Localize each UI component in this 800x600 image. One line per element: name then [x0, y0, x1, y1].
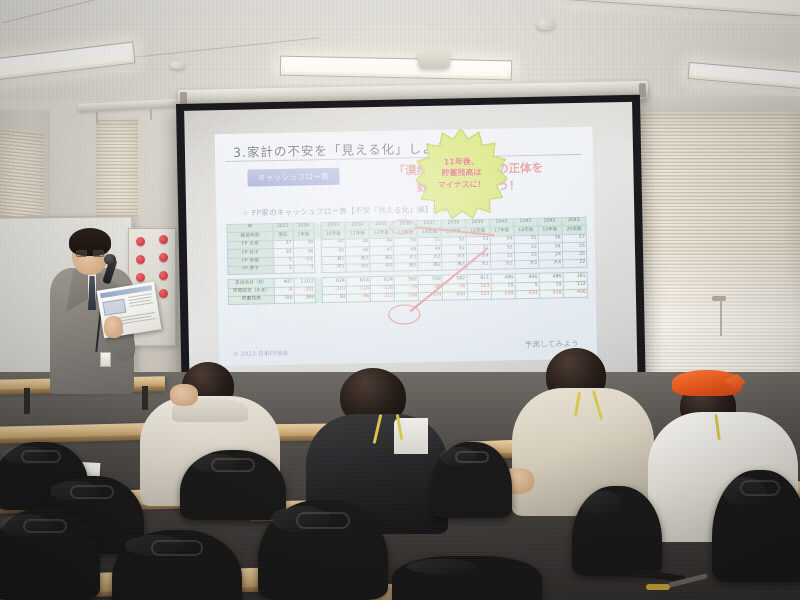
- presenter-hand: [104, 316, 123, 338]
- cashflow-cell: -288: [395, 293, 419, 302]
- cashflow-cell: -450: [443, 292, 467, 301]
- desk-leg: [24, 388, 30, 414]
- chair[interactable]: [392, 556, 542, 600]
- starburst-callout: 11年後、 貯蓄残高は マイナスに！: [415, 127, 509, 221]
- chair[interactable]: [712, 470, 800, 582]
- red-indicator-icon: [159, 289, 168, 298]
- glasses-icon: [76, 250, 104, 257]
- red-indicator-icon: [136, 255, 145, 264]
- red-indicator-icon: [136, 273, 145, 282]
- presentation-slide: 3.家計の不安を「見える化」しよう キャッシュフロー表 「漠然とした不安」の正体…: [215, 127, 598, 367]
- chair[interactable]: [432, 442, 512, 518]
- window-blinds-right[interactable]: [626, 112, 800, 400]
- projection-surface: 3.家計の不安を「見える化」しよう キャッシュフロー表 「漠然とした不安」の正体…: [184, 102, 637, 389]
- smoke-detector-icon: [536, 18, 555, 30]
- cashflow-tag-badge: キャッシュフロー表: [247, 168, 339, 187]
- cashflow-cell: -538: [491, 291, 515, 300]
- ceiling-speaker: [418, 52, 450, 69]
- cashflow-cell: -533: [515, 290, 539, 299]
- cashflow-cell: -406: [563, 289, 587, 298]
- name-badge: [100, 352, 111, 367]
- callout-line-2: 貯蓄残高は: [441, 167, 481, 179]
- red-indicator-icon: [159, 235, 168, 244]
- window-blinds-left-2[interactable]: [96, 118, 138, 218]
- cashflow-cell: 369: [294, 295, 316, 304]
- seminar-room-photo: 3.家計の不安を「見える化」しよう キャッシュフロー表 「漠然とした不安」の正体…: [0, 0, 800, 600]
- cashflow-cell: -86: [347, 294, 371, 303]
- attendee-1-hand: [170, 384, 198, 406]
- chair[interactable]: [258, 500, 388, 600]
- microphone-head-icon: [104, 254, 116, 265]
- callout-text: 11年後、 貯蓄残高は マイナスに！: [415, 127, 509, 221]
- red-indicator-icon: [136, 237, 145, 246]
- chair[interactable]: [180, 450, 286, 520]
- smoke-detector-icon: [170, 61, 185, 69]
- callout-line-3: マイナスに！: [438, 178, 486, 190]
- chair[interactable]: [572, 486, 662, 576]
- cashflow-row-label: 貯蓄残高: [228, 296, 274, 305]
- floor-cable-yellow: [646, 584, 670, 590]
- desk-leg: [142, 386, 148, 410]
- cashflow-cell: -553: [467, 291, 491, 300]
- callout-line-1: 11年後、: [444, 156, 479, 168]
- cashflow-cell: 700: [274, 295, 294, 304]
- blind-cord[interactable]: [720, 300, 722, 336]
- cashflow-cell: 30: [323, 294, 347, 303]
- cashflow-cell: -518: [539, 290, 563, 299]
- blind-wand-handle[interactable]: [712, 296, 726, 301]
- red-indicator-icon: [159, 253, 168, 262]
- slide-copyright: © 2023 日本FP協会: [233, 349, 289, 358]
- red-indicator-icon: [159, 271, 168, 280]
- cashflow-cell: -212: [371, 293, 395, 302]
